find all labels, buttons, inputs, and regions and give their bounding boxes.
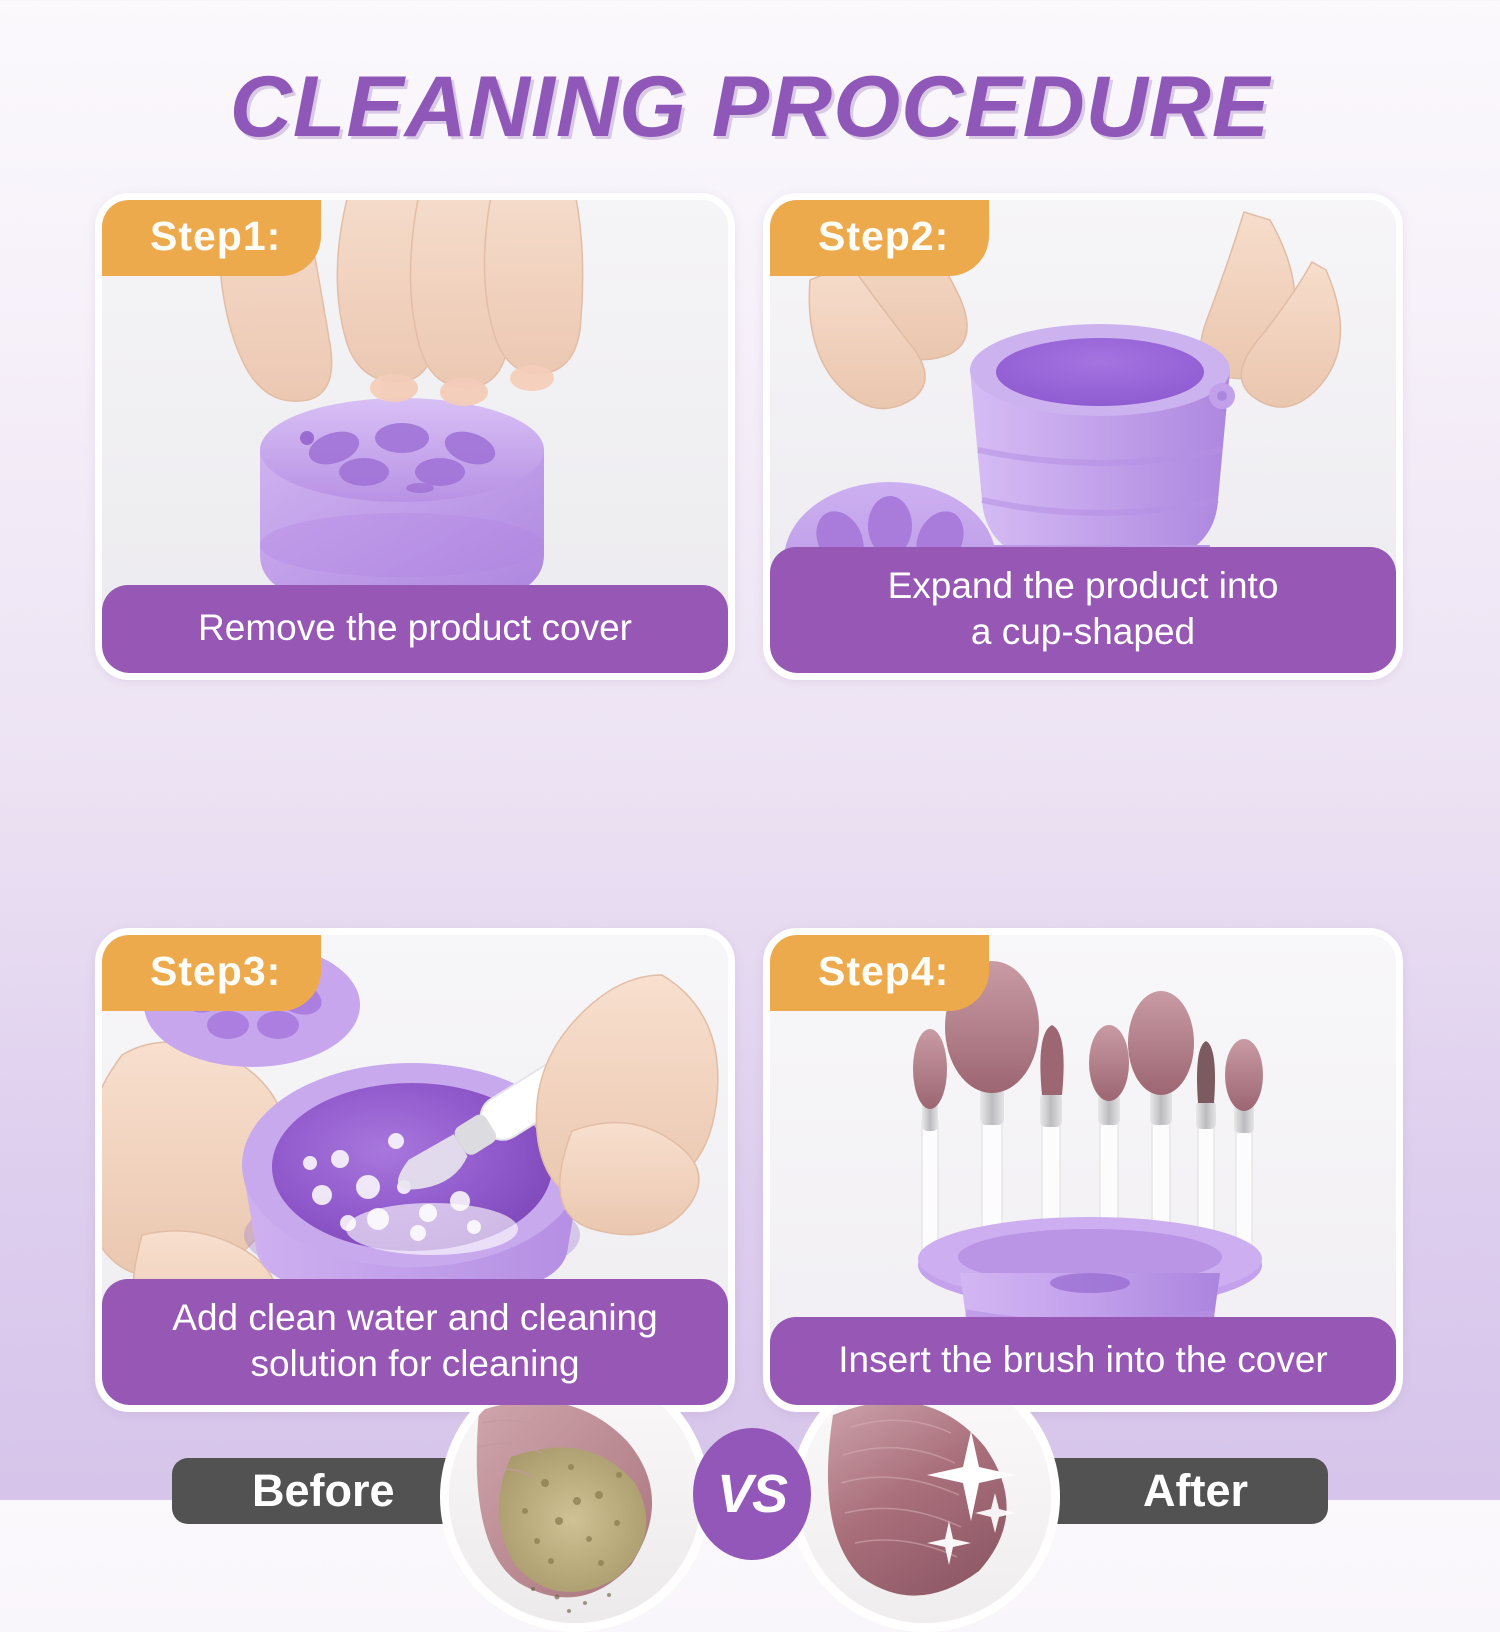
before-label: Before — [252, 1465, 395, 1517]
step-card-4: Step4: Insert the brush into the cover — [763, 928, 1403, 1412]
step-card-1: Step1: Remove the product cover — [95, 193, 735, 680]
step-3-caption: Add clean water and cleaning solution fo… — [102, 1279, 728, 1406]
vs-badge: VS — [693, 1428, 811, 1560]
step-3-badge: Step3: — [102, 935, 321, 1011]
step-4-caption: Insert the brush into the cover — [770, 1317, 1396, 1405]
step-2-caption: Expand the product into a cup-shaped — [770, 547, 1396, 674]
step-3-caption-line-2: solution for cleaning — [126, 1341, 704, 1387]
step-3-caption-line-1: Add clean water and cleaning — [126, 1295, 704, 1341]
step-2-caption-line-1: Expand the product into — [794, 563, 1372, 609]
step-1-badge: Step1: — [102, 200, 321, 276]
step-4-badge: Step4: — [770, 935, 989, 1011]
step-card-2: Step2: Expand the product into a cup-sha… — [763, 193, 1403, 680]
step-2-caption-line-2: a cup-shaped — [794, 609, 1372, 655]
step-card-3: Step3: Add clean water and cleaning solu… — [95, 928, 735, 1412]
step-2-badge: Step2: — [770, 200, 989, 276]
after-label: After — [1143, 1465, 1248, 1517]
page-title: CLEANING PROCEDURE — [0, 58, 1500, 157]
before-after-comparison: Before After — [0, 690, 1500, 920]
step-1-caption: Remove the product cover — [102, 585, 728, 673]
